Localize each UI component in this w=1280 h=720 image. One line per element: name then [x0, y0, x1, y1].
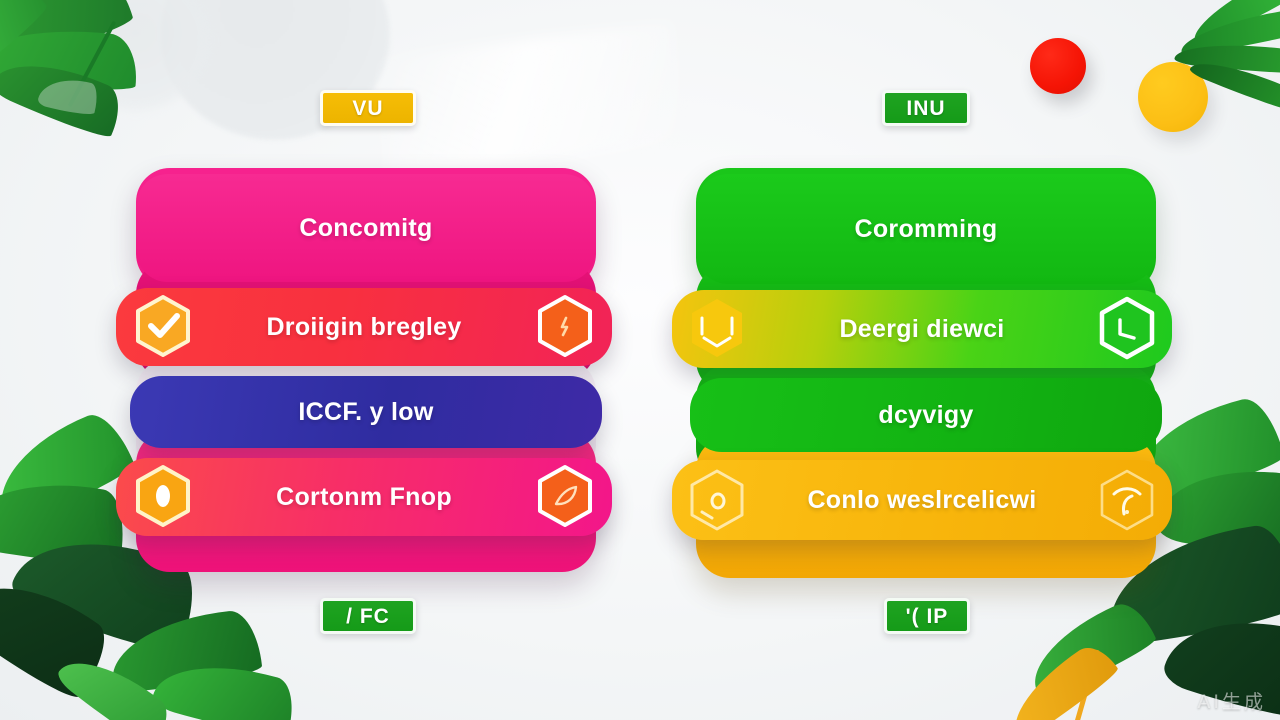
left-row-4[interactable]: Cortonm Fnop — [116, 458, 612, 536]
right-row-4[interactable]: Conlo weslrcelicwi — [672, 460, 1172, 540]
left-row-2-label: Droiigin bregley — [266, 313, 461, 342]
right-row-4-label: Conlo weslrcelicwi — [807, 486, 1036, 515]
watermark: AI生成 — [1197, 687, 1266, 714]
chip-top-right[interactable]: INU — [882, 90, 970, 126]
chip-bottom-left-label: / FC — [346, 606, 390, 627]
hex-dot-icon[interactable] — [688, 468, 746, 532]
backdrop-sheen — [374, 22, 686, 178]
right-row-3-label: dcyvigy — [878, 401, 973, 430]
hex-spark-icon[interactable] — [536, 294, 594, 358]
hex-check-outline-icon[interactable] — [1098, 296, 1156, 360]
chip-top-right-label: INU — [906, 98, 945, 119]
chip-bottom-left[interactable]: / FC — [320, 598, 416, 634]
left-row-1-label: Concomitg — [299, 214, 432, 243]
left-row-3-label: ICCF. y low — [298, 398, 433, 427]
right-row-1[interactable]: Coromming — [696, 174, 1156, 284]
hex-check-icon[interactable] — [134, 294, 192, 358]
red-dot — [1030, 38, 1086, 94]
backdrop-blob-small — [60, 0, 210, 110]
chip-bottom-right[interactable]: '( IP — [884, 598, 970, 634]
right-row-2[interactable]: Deergi diewci — [672, 290, 1172, 368]
illustration-canvas: Concomitg Droiigin bregley ICCF. y low — [0, 0, 1280, 720]
hex-pill-icon[interactable] — [134, 464, 192, 528]
right-row-3[interactable]: dcyvigy — [690, 378, 1162, 452]
left-row-1[interactable]: Concomitg — [136, 174, 596, 282]
chip-top-left[interactable]: VU — [320, 90, 416, 126]
hex-leaf-icon[interactable] — [536, 464, 594, 528]
left-row-4-label: Cortonm Fnop — [276, 483, 452, 512]
hex-hand-icon[interactable] — [1098, 468, 1156, 532]
foliage-top-left — [0, 0, 200, 170]
right-row-2-label: Deergi diewci — [839, 315, 1004, 344]
chip-bottom-right-label: '( IP — [906, 606, 949, 627]
left-row-2[interactable]: Droiigin bregley — [116, 288, 612, 366]
hex-open-icon[interactable] — [688, 296, 746, 360]
yellow-dot — [1138, 62, 1208, 132]
left-row-3[interactable]: ICCF. y low — [130, 376, 602, 448]
right-row-1-label: Coromming — [855, 215, 998, 244]
chip-top-left-label: VU — [352, 98, 383, 119]
